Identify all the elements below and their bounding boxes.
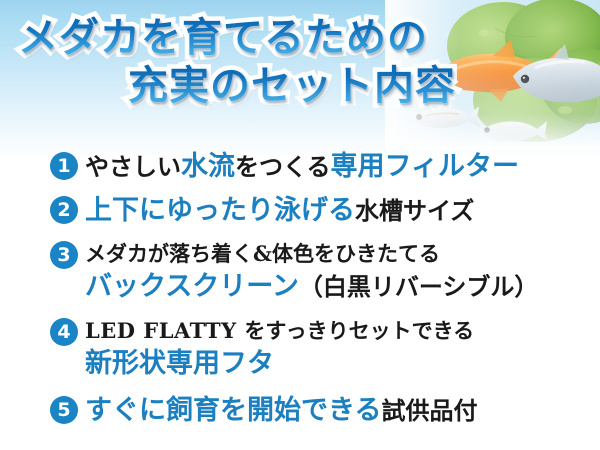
item-4-seg-product-name: LED FLATTY: [85, 318, 244, 343]
item-5-seg-1: すぐに飼育を開始できる: [85, 395, 381, 426]
list-item: 1 やさしい水流をつくる専用フィルター: [0, 150, 600, 194]
item-body-5: すぐに飼育を開始できる試供品付: [85, 394, 477, 428]
item-number-badge-2: 2: [50, 196, 78, 224]
item-4-line-2: 新形状専用フタ: [85, 347, 474, 381]
headline-line-2-text: 充実のセット内容: [128, 63, 456, 109]
item-3-seg-2: バックスクリーン: [85, 271, 299, 302]
item-number-badge-4: 4: [50, 318, 78, 346]
item-body-1: やさしい水流をつくる専用フィルター: [85, 150, 519, 184]
item-1-seg-2: 水流: [181, 151, 235, 182]
list-item: 4 LED FLATTY をすっきりセットできる 新形状専用フタ: [0, 316, 600, 394]
item-number-badge-5: 5: [50, 396, 78, 424]
headline-line-1-text: メダカを育てるための: [18, 15, 428, 61]
item-4-line-1: LED FLATTY をすっきりセットできる: [85, 316, 474, 346]
item-3-line-1: メダカが落ち着く&体色をひきたてる: [85, 239, 538, 269]
item-1-seg-4: 専用フィルター: [331, 151, 519, 182]
item-body-4: LED FLATTY をすっきりセットできる 新形状専用フタ: [85, 316, 474, 381]
item-3-line-2: バックスクリーン（白黒リバーシブル）: [85, 270, 538, 304]
headline-line-1: メダカを育てるための メダカを育てるための: [0, 14, 470, 62]
poster-root: メダカを育てるための メダカを育てるための 充実のセット内容 充実のセット内容 …: [0, 0, 600, 450]
headline-line-2: 充実のセット内容 充実のセット内容: [0, 62, 470, 110]
item-2-seg-2: 水槽サイズ: [355, 196, 474, 225]
feature-list: 1 やさしい水流をつくる専用フィルター 2 上下にゆったり泳げる水槽サイズ 3 …: [0, 150, 600, 439]
item-4-seg-3: 新形状専用フタ: [85, 348, 274, 379]
headline: メダカを育てるための メダカを育てるための 充実のセット内容 充実のセット内容: [0, 14, 470, 110]
item-1-seg-3: をつくる: [235, 152, 331, 181]
item-number-badge-1: 1: [50, 152, 78, 180]
item-2-seg-1: 上下にゆったり泳げる: [85, 195, 355, 226]
item-body-2: 上下にゆったり泳げる水槽サイズ: [85, 194, 474, 228]
list-item: 5 すぐに飼育を開始できる試供品付: [0, 394, 600, 439]
item-1-line-1: やさしい水流をつくる専用フィルター: [85, 150, 519, 184]
list-item: 2 上下にゆったり泳げる水槽サイズ: [0, 194, 600, 239]
item-3-seg-3: （白黒リバーシブル）: [299, 272, 539, 301]
item-1-seg-1: やさしい: [85, 152, 181, 181]
item-2-line-1: 上下にゆったり泳げる水槽サイズ: [85, 194, 474, 228]
item-4-seg-2: をすっきりセットできる: [244, 318, 474, 343]
item-5-seg-2: 試供品付: [381, 396, 477, 425]
item-3-seg-1: メダカが落ち着く&体色をひきたてる: [85, 241, 440, 266]
list-item: 3 メダカが落ち着く&体色をひきたてる バックスクリーン（白黒リバーシブル）: [0, 239, 600, 316]
item-5-line-1: すぐに飼育を開始できる試供品付: [85, 394, 477, 428]
item-number-badge-3: 3: [50, 241, 78, 269]
item-body-3: メダカが落ち着く&体色をひきたてる バックスクリーン（白黒リバーシブル）: [85, 239, 538, 304]
